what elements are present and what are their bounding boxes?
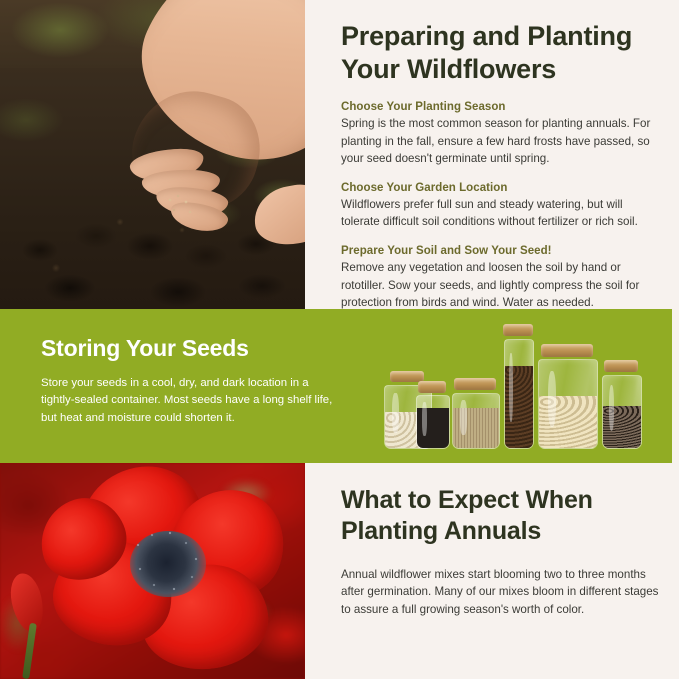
subheading-garden-location: Choose Your Garden Location	[341, 168, 661, 194]
green-text-column: Storing Your Seeds Store your seeds in a…	[41, 335, 341, 427]
cork-lid	[503, 324, 533, 336]
cork-lid	[604, 360, 638, 372]
jar-highlight	[392, 393, 398, 433]
cork-lid	[541, 344, 593, 357]
poppy-stamens	[122, 523, 216, 607]
photo-hand-sowing-seeds	[0, 0, 305, 309]
jar-tan-grain	[452, 387, 498, 449]
body-prepare-soil: Remove any vegetation and loosen the soi…	[341, 257, 661, 312]
what-to-expect-title: What to Expect When Planting Annuals	[341, 485, 661, 548]
photo-red-poppy	[0, 463, 305, 679]
jar-glass	[416, 395, 450, 449]
jar-sunflower-seeds	[602, 369, 640, 449]
seeds-in-hand	[164, 192, 200, 220]
bottom-text-column: What to Expect When Planting Annuals Ann…	[341, 463, 661, 618]
infographic-page: Preparing and Planting Your Wildflowers …	[0, 0, 679, 679]
page-title: Preparing and Planting Your Wildflowers	[341, 0, 661, 87]
jar-pumpkin-seeds	[538, 353, 596, 449]
section-preparing-planting: Preparing and Planting Your Wildflowers …	[0, 0, 679, 309]
body-garden-location: Wildflowers prefer full sun and steady w…	[341, 194, 661, 231]
section-what-to-expect: What to Expect When Planting Annuals Ann…	[0, 463, 679, 679]
subheading-planting-season: Choose Your Planting Season	[341, 87, 661, 113]
photo-seed-jars	[380, 317, 670, 457]
cork-lid	[418, 381, 446, 393]
top-text-column: Preparing and Planting Your Wildflowers …	[341, 0, 661, 309]
jar-glass	[538, 359, 598, 449]
storing-seeds-title: Storing Your Seeds	[41, 335, 341, 362]
subheading-prepare-soil: Prepare Your Soil and Sow Your Seed!	[341, 231, 661, 257]
jar-glass	[602, 375, 642, 449]
jar-glass	[452, 393, 500, 449]
jar-highlight	[548, 371, 556, 427]
section-storing-your-seeds: Storing Your Seeds Store your seeds in a…	[0, 309, 672, 463]
what-to-expect-body: Annual wildflower mixes start blooming t…	[341, 548, 661, 619]
body-planting-season: Spring is the most common season for pla…	[341, 113, 661, 168]
jar-glass	[504, 339, 534, 449]
cork-lid	[454, 378, 496, 390]
storing-seeds-body: Store your seeds in a cool, dry, and dar…	[41, 362, 341, 427]
jar-highlight	[460, 400, 466, 435]
jar-black-seeds	[416, 389, 448, 449]
poppy-flower	[34, 467, 282, 667]
jar-highlight	[422, 402, 426, 435]
jar-dark-brown-seeds	[504, 333, 532, 449]
